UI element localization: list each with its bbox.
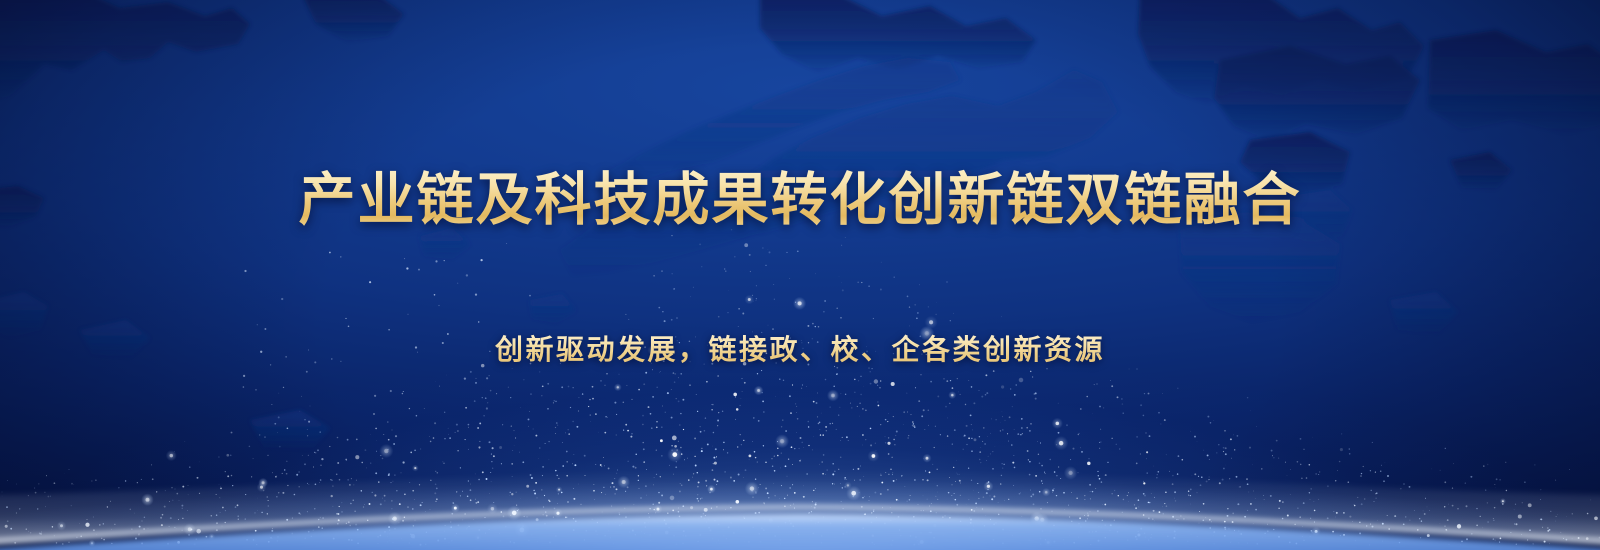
banner-content: 产业链及科技成果转化创新链双链融合 创新驱动发展，链接政、校、企各类创新资源 — [0, 0, 1600, 550]
banner-subheadline: 创新驱动发展，链接政、校、企各类创新资源 — [0, 331, 1600, 369]
hero-banner: 产业链及科技成果转化创新链双链融合 创新驱动发展，链接政、校、企各类创新资源 — [0, 0, 1600, 550]
banner-headline: 产业链及科技成果转化创新链双链融合 — [0, 167, 1600, 233]
